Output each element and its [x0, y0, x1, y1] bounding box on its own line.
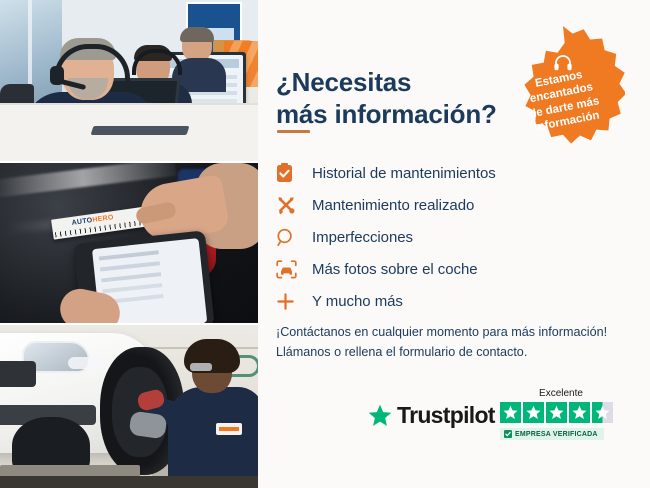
star-icon	[569, 402, 590, 423]
status-badge: EMPRESA VERIFICADA	[500, 428, 604, 440]
trustpilot-widget[interactable]: Trustpilot Excelente	[368, 388, 640, 452]
promo-banner: AUTOHERO	[0, 0, 650, 488]
plus-icon	[276, 287, 312, 315]
content-panel: ¿Necesitas más información? Estamos enca…	[258, 0, 650, 488]
trustpilot-rating: Excelente	[500, 388, 640, 443]
magnifier-icon	[276, 223, 312, 251]
contact-paragraph-line-2: Llámanos o rellena el formulario de cont…	[276, 345, 527, 359]
car-inspection-ruler-photo: AUTOHERO	[0, 163, 258, 323]
star-icon	[500, 402, 521, 423]
clipboard-check-icon	[276, 159, 312, 187]
list-item-label: Más fotos sobre el coche	[312, 262, 478, 277]
contact-paragraph-line-1: ¡Contáctanos en cualquier momento para m…	[276, 325, 607, 339]
list-item-label: Imperfecciones	[312, 230, 413, 245]
car-photo-frame-icon	[276, 255, 312, 283]
verified-label: EMPRESA VERIFICADA	[515, 431, 598, 438]
call-center-agents-photo	[0, 0, 258, 161]
list-item: Imperfecciones	[276, 221, 636, 253]
help-badge: Estamos encantados de darte más informac…	[501, 24, 625, 148]
trustpilot-logo[interactable]: Trustpilot	[368, 402, 495, 429]
verified-check-icon	[504, 430, 512, 438]
list-item-label: Historial de mantenimientos	[312, 166, 496, 181]
star-icon	[546, 402, 567, 423]
trustpilot-star-icon	[368, 404, 392, 427]
list-item: Historial de mantenimientos	[276, 157, 636, 189]
feature-list: Historial de mantenimientos M	[276, 157, 636, 317]
photo-column: AUTOHERO	[0, 0, 258, 488]
star-icon	[523, 402, 544, 423]
list-item: Mantenimiento realizado	[276, 189, 636, 221]
title-underline-divider	[277, 130, 310, 133]
list-item: Y mucho más	[276, 285, 636, 317]
list-item: Más fotos sobre el coche	[276, 253, 636, 285]
page-title-line-1: ¿Necesitas	[276, 67, 411, 97]
tools-cross-icon	[276, 191, 312, 219]
page-title-line-2: más información?	[276, 99, 497, 129]
trustpilot-wordmark: Trustpilot	[397, 402, 495, 429]
page-title: ¿Necesitas más información?	[276, 67, 516, 130]
half-star-icon	[592, 402, 613, 423]
trustpilot-stars	[500, 402, 640, 423]
trustpilot-rating-label: Excelente	[502, 388, 620, 399]
contact-paragraph: ¡Contáctanos en cualquier momento para m…	[276, 322, 636, 363]
list-item-label: Y mucho más	[312, 294, 403, 309]
list-item-label: Mantenimiento realizado	[312, 198, 474, 213]
mechanic-wheel-photo	[0, 325, 258, 488]
